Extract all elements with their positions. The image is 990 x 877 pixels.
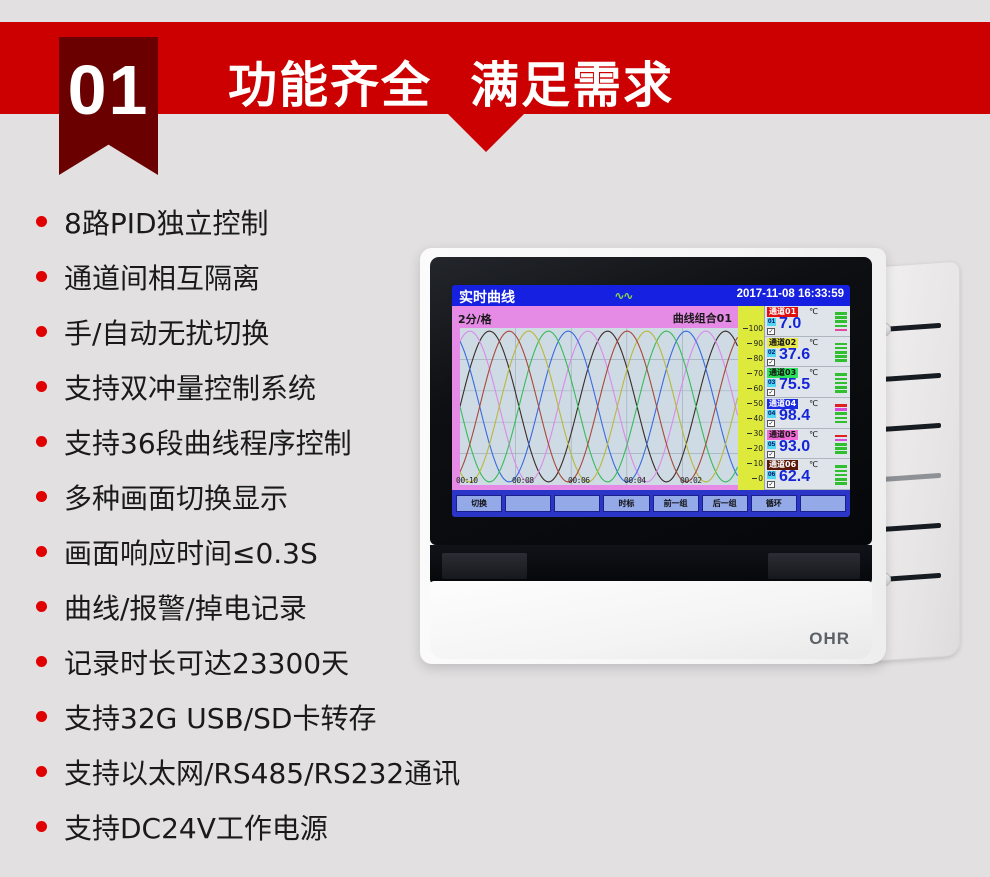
channel-checkbox[interactable]: ✓ <box>767 359 775 366</box>
bargraph-segment <box>835 474 847 477</box>
channel-index: 06 <box>767 471 776 479</box>
list-item: 支持以太网/RS485/RS232通讯 <box>36 744 466 799</box>
list-item: 画面响应时间≤0.3S <box>36 524 466 579</box>
channel-row[interactable]: 通道04℃04✓98.4 <box>765 398 850 429</box>
lcd-screen: 实时曲线 ∿∿ 2017-11-08 16:33:59 2分/格 曲线组合01 <box>452 285 850 517</box>
feature-text: 支持DC24V工作电源 <box>64 807 328 847</box>
bullet-icon <box>36 601 47 612</box>
list-item: 多种画面切换显示 <box>36 469 466 524</box>
feature-text: 画面响应时间≤0.3S <box>64 532 318 572</box>
trend-curves <box>460 328 738 485</box>
channel-index: 04 <box>767 410 776 418</box>
channel-checkbox[interactable]: ✓ <box>767 420 775 427</box>
softkey-empty-7[interactable] <box>800 495 846 512</box>
time-scale-label: 2分/格 <box>458 311 492 327</box>
bullet-icon <box>36 711 47 722</box>
bullet-icon <box>36 436 47 447</box>
banner-title: 功能齐全 满足需求 <box>228 46 674 117</box>
channel-value: 7.0 <box>779 315 801 333</box>
channel-unit: ℃ <box>809 368 818 377</box>
channel-row[interactable]: 通道06℃06✓62.4 <box>765 459 850 490</box>
bargraph-segment <box>835 439 847 442</box>
softkey-5[interactable]: 后一组 <box>702 495 748 512</box>
trend-graph-region[interactable]: 2分/格 曲线组合01 00:10 00:08 00:06 00:04 00:0… <box>452 306 738 490</box>
channel-bargraph <box>835 465 847 486</box>
brand-logo: OHR <box>809 629 850 649</box>
channel-value: 98.4 <box>779 407 810 425</box>
bargraph-segment <box>835 316 847 319</box>
device-faceplate: 实时曲线 ∿∿ 2017-11-08 16:33:59 2分/格 曲线组合01 <box>420 248 886 664</box>
feature-text: 8路PID独立控制 <box>64 202 269 242</box>
feature-list: 8路PID独立控制 通道间相互隔离 手/自动无扰切换 支持双冲量控制系统 支持3… <box>36 194 466 854</box>
channel-unit: ℃ <box>809 338 818 347</box>
channel-value: 93.0 <box>779 438 810 456</box>
bargraph-segment <box>835 435 847 438</box>
bullet-icon <box>36 381 47 392</box>
bargraph-segment <box>835 390 847 393</box>
feature-text: 支持双冲量控制系统 <box>64 367 316 407</box>
channel-checkbox[interactable]: ✓ <box>767 481 775 488</box>
list-item: 支持32G USB/SD卡转存 <box>36 689 466 744</box>
bargraph-segment <box>835 378 847 381</box>
channel-bargraph <box>835 435 847 456</box>
softkey-0[interactable]: 切换 <box>456 495 502 512</box>
y-tick: 60 <box>753 384 763 393</box>
channel-row[interactable]: 通道02℃02✓37.6 <box>765 337 850 368</box>
channel-index: 05 <box>767 441 776 449</box>
bargraph-segment <box>835 421 847 424</box>
channel-unit: ℃ <box>809 460 818 469</box>
bullet-icon <box>36 216 47 227</box>
time-tick: 00:06 <box>568 476 590 485</box>
bargraph-segment <box>835 351 847 354</box>
channel-value: 75.5 <box>779 376 810 394</box>
feature-text: 手/自动无扰切换 <box>64 312 269 352</box>
y-tick: 0 <box>758 474 763 483</box>
bargraph-segment <box>835 470 847 473</box>
lcd-body: 2分/格 曲线组合01 00:10 00:08 00:06 00:04 00:0… <box>452 306 850 490</box>
time-tick: 00:10 <box>456 476 478 485</box>
banner-arrow <box>448 114 524 152</box>
channel-checkbox[interactable]: ✓ <box>767 451 775 458</box>
bargraph-segment <box>835 359 847 362</box>
y-tick: 80 <box>753 354 763 363</box>
softkey-empty-1[interactable] <box>505 495 551 512</box>
section-number-ribbon: 01 <box>59 37 158 175</box>
feature-text: 多种画面切换显示 <box>64 477 288 517</box>
y-tick: 50 <box>753 399 763 408</box>
bullet-icon <box>36 821 47 832</box>
y-tick: 90 <box>753 339 763 348</box>
channel-unit: ℃ <box>809 430 818 439</box>
feature-text: 支持以太网/RS485/RS232通讯 <box>64 752 460 792</box>
feature-text: 支持32G USB/SD卡转存 <box>64 697 376 737</box>
softkey-6[interactable]: 循环 <box>751 495 797 512</box>
channel-index: 03 <box>767 379 776 387</box>
page-title: 实时曲线 <box>459 287 515 307</box>
trend-curve <box>460 331 738 482</box>
y-tick: 70 <box>753 369 763 378</box>
bullet-icon <box>36 271 47 282</box>
bullet-icon <box>36 491 47 502</box>
feature-text: 支持36段曲线程序控制 <box>64 422 352 462</box>
channel-row[interactable]: 通道01℃01✓7.0 <box>765 306 850 337</box>
bullet-icon <box>36 326 47 337</box>
bullet-icon <box>36 766 47 777</box>
softkey-bar: 切换时标前一组后一组循环 <box>452 490 850 517</box>
time-tick: 00:02 <box>680 476 702 485</box>
bargraph-segment <box>835 447 847 450</box>
y-tick: 30 <box>753 429 763 438</box>
paperless-recorder-device: 实时曲线 ∿∿ 2017-11-08 16:33:59 2分/格 曲线组合01 <box>420 248 980 678</box>
channel-bargraph <box>835 312 847 333</box>
bargraph-segment <box>835 451 847 454</box>
y-tick: 10 <box>753 459 763 468</box>
bargraph-segment <box>835 329 847 332</box>
graph-header: 2分/格 曲线组合01 <box>452 306 738 328</box>
list-item: 手/自动无扰切换 <box>36 304 466 359</box>
list-item: 曲线/报警/掉电记录 <box>36 579 466 634</box>
channel-index: 02 <box>767 349 776 357</box>
datetime-display: 2017-11-08 16:33:59 <box>737 288 844 300</box>
softkey-3[interactable]: 时标 <box>603 495 649 512</box>
curve-group-label: 曲线组合01 <box>673 310 732 326</box>
softkey-4[interactable]: 前一组 <box>653 495 699 512</box>
y-tick: 20 <box>753 444 763 453</box>
channel-bargraph <box>835 343 847 364</box>
trend-plot <box>460 328 738 485</box>
bottom-panel: OHR <box>430 581 872 659</box>
feature-text: 记录时长可达23300天 <box>64 642 349 682</box>
bargraph-segment <box>835 382 847 385</box>
channel-index: 01 <box>767 318 776 326</box>
feature-text: 通道间相互隔离 <box>64 257 260 297</box>
bargraph-segment <box>835 408 847 411</box>
bargraph-segment <box>835 347 847 350</box>
media-slot[interactable] <box>768 553 860 579</box>
list-item: 8路PID独立控制 <box>36 194 466 249</box>
bargraph-segment <box>835 404 847 407</box>
time-tick: 00:08 <box>512 476 534 485</box>
bargraph-segment <box>835 465 847 468</box>
bargraph-segment <box>835 320 847 323</box>
bargraph-segment <box>835 355 847 358</box>
channel-checkbox[interactable]: ✓ <box>767 328 775 335</box>
list-item: 通道间相互隔离 <box>36 249 466 304</box>
softkey-empty-2[interactable] <box>554 495 600 512</box>
bargraph-segment <box>835 417 847 420</box>
section-number: 01 <box>68 55 150 125</box>
channel-row[interactable]: 通道03℃03✓75.5 <box>765 367 850 398</box>
feature-text: 曲线/报警/掉电记录 <box>64 587 307 627</box>
channel-panel: 通道01℃01✓7.0通道02℃02✓37.6通道03℃03✓75.5通道04℃… <box>764 306 850 490</box>
channel-value: 62.4 <box>779 468 810 486</box>
list-item: 支持36段曲线程序控制 <box>36 414 466 469</box>
wave-logo-icon: ∿∿ <box>614 289 632 303</box>
bargraph-segment <box>835 386 847 389</box>
time-tick: 00:04 <box>624 476 646 485</box>
bargraph-segment <box>835 443 847 446</box>
list-item: 支持DC24V工作电源 <box>36 799 466 854</box>
channel-unit: ℃ <box>809 399 818 408</box>
bargraph-segment <box>835 373 847 376</box>
y-tick: 100 <box>749 324 763 333</box>
bullet-icon <box>36 656 47 667</box>
bargraph-segment <box>835 325 847 328</box>
channel-unit: ℃ <box>809 307 818 316</box>
bargraph-segment <box>835 478 847 481</box>
list-item: 支持双冲量控制系统 <box>36 359 466 414</box>
header-banner: 01 功能齐全 满足需求 <box>0 22 990 114</box>
channel-row[interactable]: 通道05℃05✓93.0 <box>765 429 850 460</box>
bargraph-segment <box>835 482 847 485</box>
channel-bargraph <box>835 404 847 425</box>
channel-value: 37.6 <box>779 346 810 364</box>
value-axis: 100 90 80 70 60 50 40 30 20 10 0 <box>738 306 764 490</box>
media-slot[interactable] <box>442 553 527 579</box>
screen-bezel: 实时曲线 ∿∿ 2017-11-08 16:33:59 2分/格 曲线组合01 <box>430 257 872 545</box>
lcd-titlebar: 实时曲线 ∿∿ 2017-11-08 16:33:59 <box>452 285 850 306</box>
channel-bargraph <box>835 373 847 394</box>
y-tick: 40 <box>753 414 763 423</box>
bargraph-segment <box>835 412 847 415</box>
bargraph-segment <box>835 312 847 315</box>
lower-bezel-strip <box>430 545 872 585</box>
bullet-icon <box>36 546 47 557</box>
bargraph-segment <box>835 343 847 346</box>
list-item: 记录时长可达23300天 <box>36 634 466 689</box>
time-axis: 00:10 00:08 00:06 00:04 00:02 <box>452 473 738 490</box>
channel-checkbox[interactable]: ✓ <box>767 389 775 396</box>
